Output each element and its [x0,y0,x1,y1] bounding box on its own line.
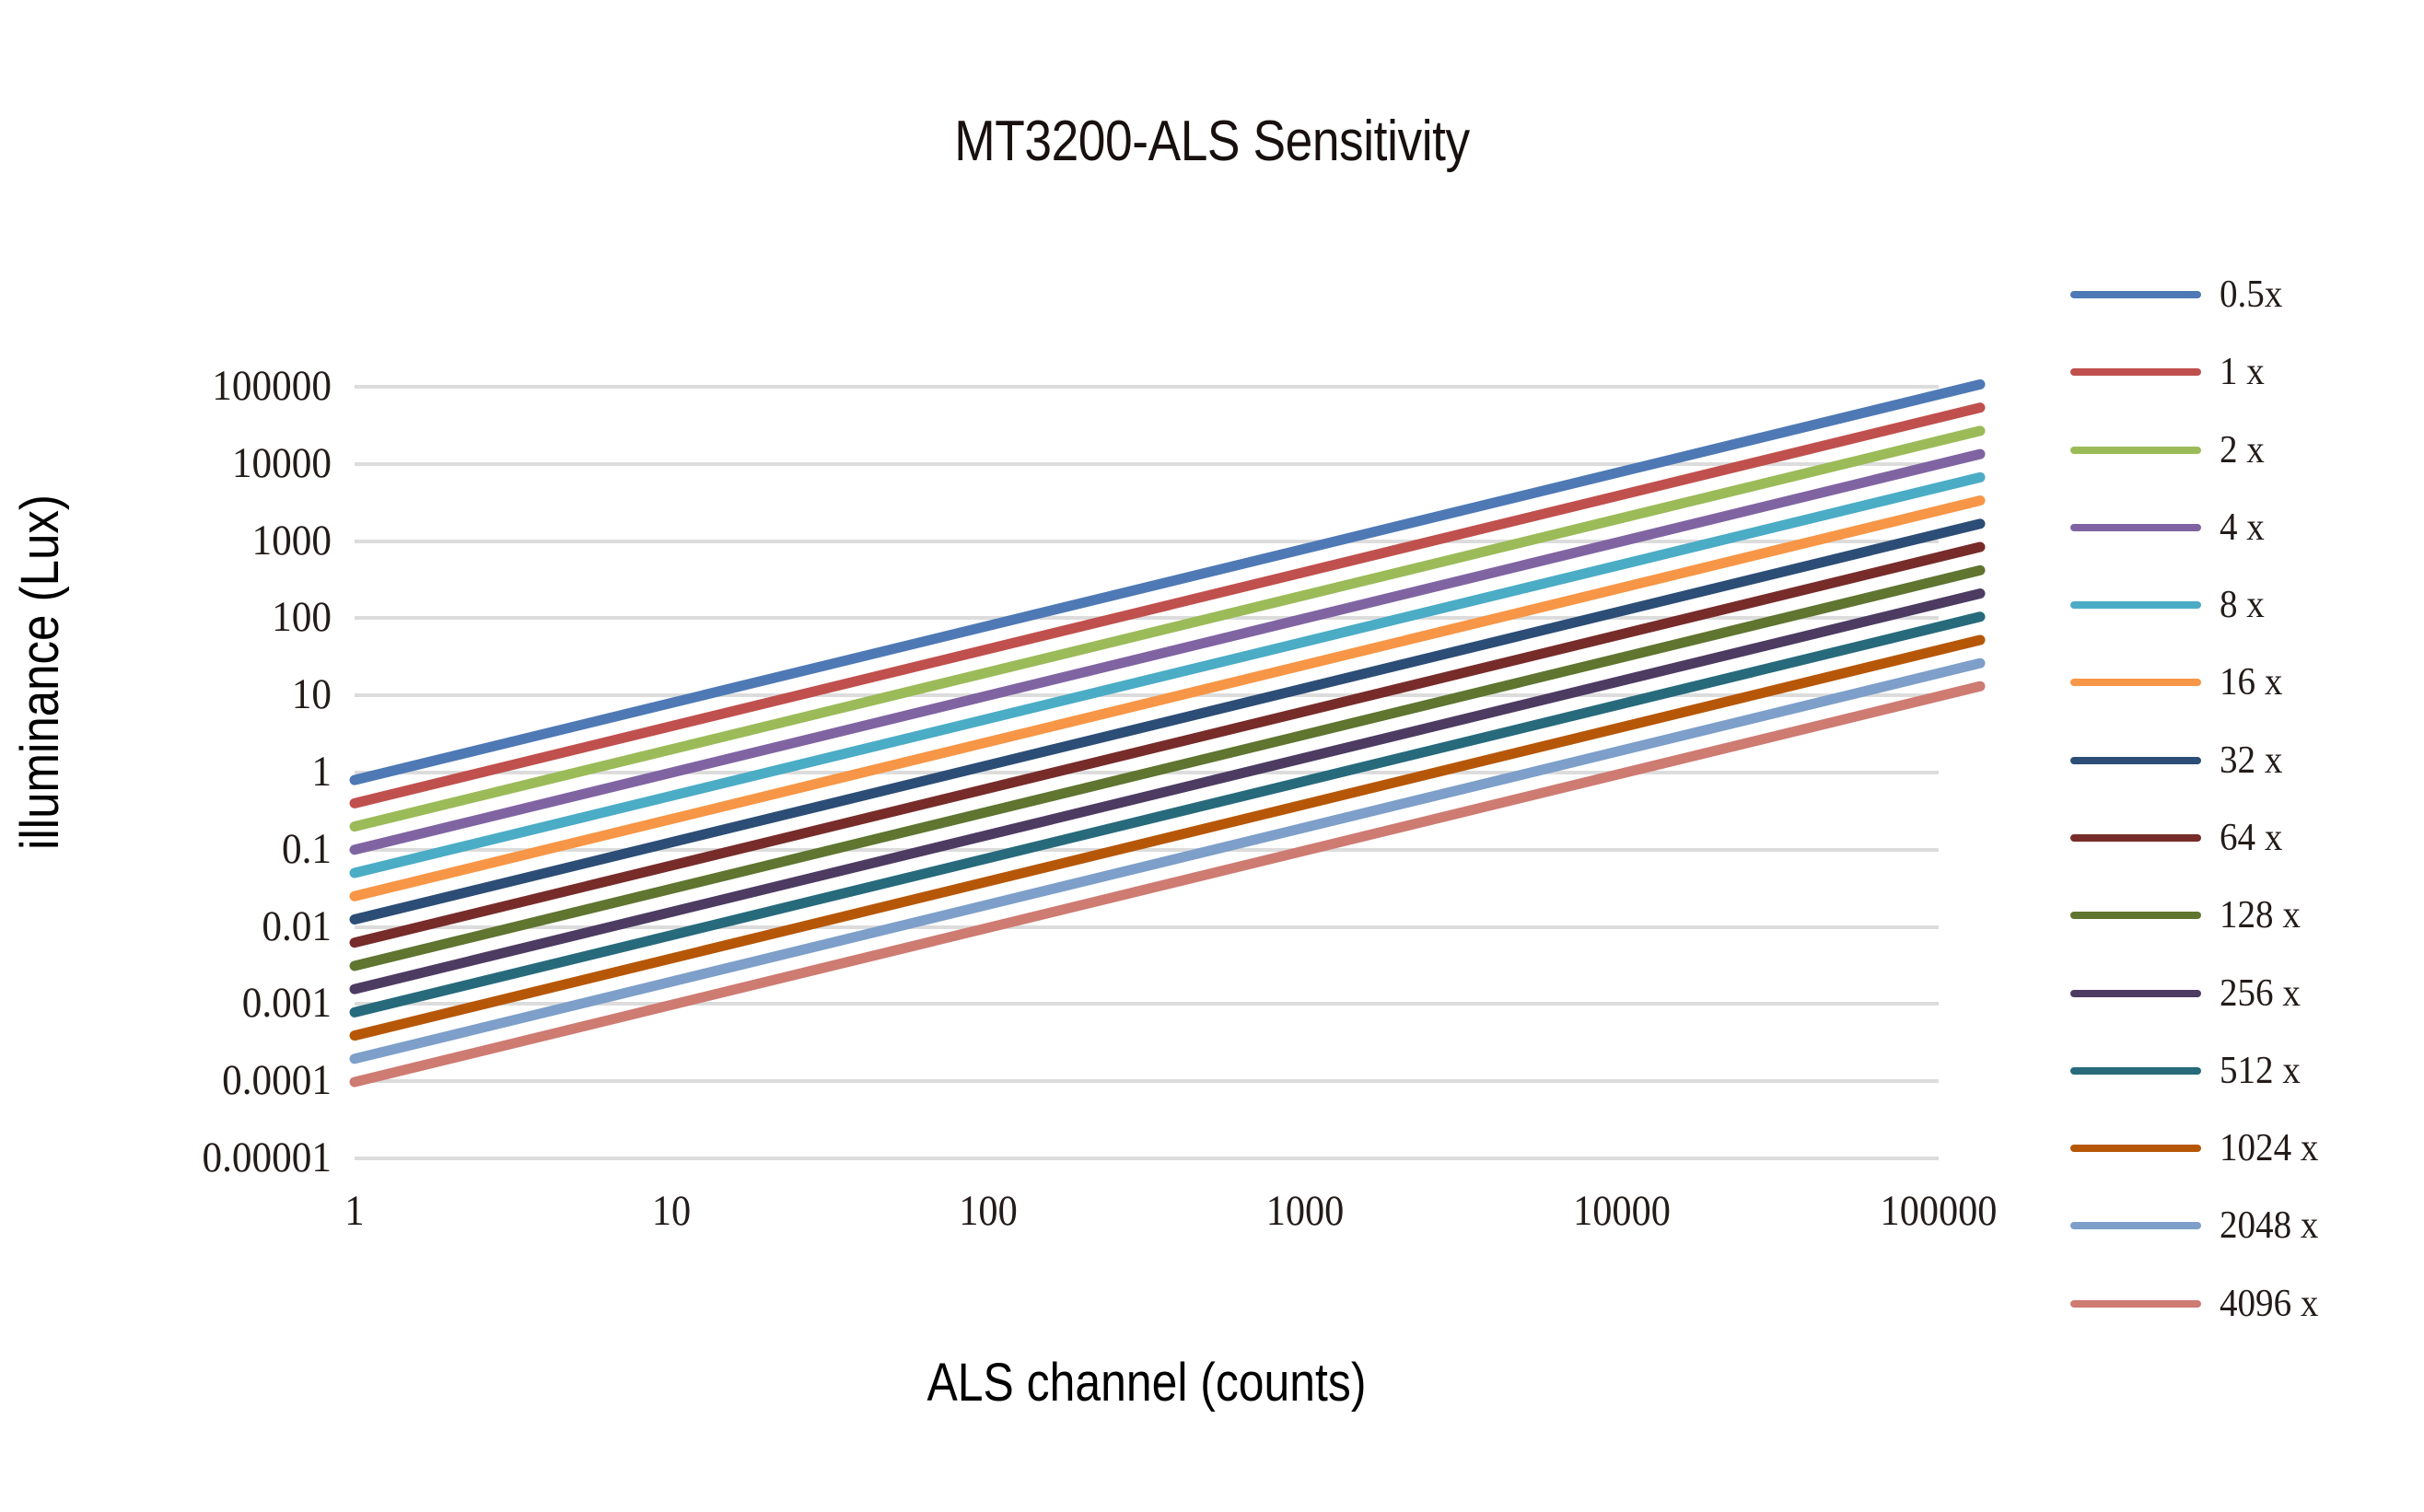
y-axis-tick-label: 10 [77,673,332,716]
legend-label: 4096 x [2220,1285,2318,1323]
legend-color-swatch [2070,679,2201,686]
x-axis-tick-label: 10 [652,1190,691,1233]
y-axis-tick-label: 0.001 [77,982,332,1025]
legend-color-swatch [2070,1145,2201,1152]
legend-color-swatch [2070,757,2201,764]
chart-container: MT3200-ALS Sensitivity illuminance (Lux)… [0,0,2424,1512]
legend-item[interactable]: 4 x [2070,509,2268,546]
x-axis-tick-label: 1 [344,1190,364,1233]
legend-color-swatch [2070,601,2201,609]
legend-item[interactable]: 64 x [2070,820,2288,856]
legend-label: 16 x [2220,663,2282,702]
legend-color-swatch [2070,1067,2201,1075]
y-axis-tick-label: 1 [77,750,332,794]
y-axis-tick-label: 1000 [77,519,332,563]
legend-label: 1024 x [2220,1129,2318,1168]
legend-label: 4 x [2220,508,2265,547]
legend-color-swatch [2070,524,2201,531]
legend-color-swatch [2070,1222,2201,1229]
legend-label: 128 x [2220,896,2301,935]
chart-legend: 0.5x1 x2 x4 x8 x16 x32 x64 x128 x256 x51… [2070,276,2402,1363]
legend-item[interactable]: 4096 x [2070,1285,2326,1322]
legend-item[interactable]: 1024 x [2070,1130,2326,1167]
legend-color-swatch [2070,291,2201,298]
x-axis-tick-label: 100000 [1881,1190,1998,1233]
legend-label: 0.5x [2220,275,2282,314]
legend-item[interactable]: 1 x [2070,354,2268,390]
legend-label: 32 x [2220,741,2282,780]
plot-area [355,387,1939,1158]
y-axis-tick-label: 0.01 [77,905,332,948]
legend-color-swatch [2070,447,2201,454]
y-axis-tick-label: 10000 [77,442,332,485]
legend-label: 2048 x [2220,1206,2318,1245]
y-axis-tick-label: 0.0001 [77,1059,332,1102]
chart-title: MT3200-ALS Sensitivity [169,109,2255,174]
series-lines [347,331,2005,1215]
legend-item[interactable]: 0.5x [2070,276,2288,313]
legend-label: 64 x [2220,819,2282,857]
x-axis-tick-labels: 110100100010000100000 [355,1190,1939,1254]
y-axis-tick-label: 100 [77,596,332,639]
legend-color-swatch [2070,834,2201,842]
y-axis-tick-label: 100000 [77,365,332,408]
y-axis-tick-label: 0.1 [77,828,332,871]
legend-color-swatch [2070,1300,2201,1308]
legend-item[interactable]: 256 x [2070,975,2307,1012]
legend-color-swatch [2070,368,2201,376]
legend-label: 2 x [2220,431,2265,470]
y-axis-tick-label: 0.00001 [77,1136,332,1180]
legend-label: 512 x [2220,1052,2301,1090]
x-axis-tick-label: 10000 [1573,1190,1671,1233]
legend-color-swatch [2070,990,2201,997]
legend-label: 1 x [2220,353,2265,391]
legend-item[interactable]: 32 x [2070,742,2288,779]
x-axis-tick-label: 100 [959,1190,1017,1233]
legend-label: 8 x [2220,586,2265,624]
legend-item[interactable]: 2 x [2070,432,2268,469]
legend-item[interactable]: 8 x [2070,587,2268,623]
legend-label: 256 x [2220,974,2301,1013]
legend-item[interactable]: 512 x [2070,1053,2307,1089]
legend-item[interactable]: 16 x [2070,664,2288,701]
y-axis-tick-labels: 1000001000010001001010.10.010.0010.00010… [41,387,332,1158]
legend-color-swatch [2070,912,2201,919]
x-axis-tick-label: 1000 [1266,1190,1345,1233]
legend-item[interactable]: 2048 x [2070,1207,2326,1244]
legend-item[interactable]: 128 x [2070,897,2307,934]
x-axis-title: ALS channel (counts) [465,1352,1827,1413]
